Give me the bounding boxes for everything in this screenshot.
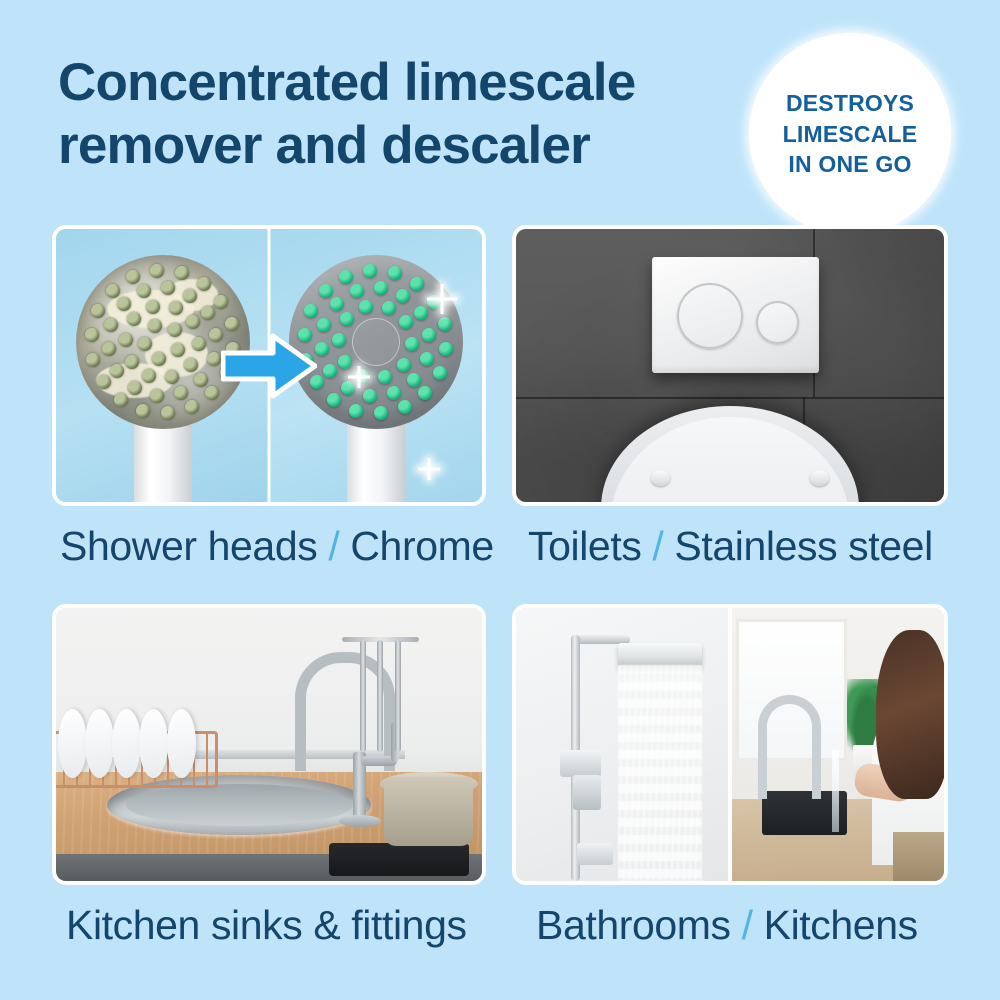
shower-nozzle bbox=[387, 386, 401, 400]
caption-separator: / bbox=[652, 523, 663, 569]
shower-nozzle bbox=[433, 366, 447, 380]
shower-nozzle bbox=[126, 270, 140, 284]
shower-nozzle bbox=[388, 266, 402, 280]
falling-water bbox=[618, 665, 703, 881]
shower-nozzle bbox=[97, 375, 111, 389]
shower-nozzle bbox=[378, 370, 392, 384]
running-water bbox=[832, 750, 839, 832]
caption-shower-heads: Shower heads / Chrome bbox=[60, 523, 494, 570]
shower-heads-image bbox=[56, 229, 482, 502]
shower-nozzle bbox=[146, 300, 160, 314]
toilet-bumper bbox=[651, 470, 670, 486]
utensil bbox=[377, 640, 383, 751]
shower-nozzle bbox=[150, 264, 164, 278]
tap-spout bbox=[758, 695, 822, 799]
shower-nozzle bbox=[319, 284, 333, 298]
panel-bathroom-kitchen bbox=[512, 604, 948, 885]
shower-nozzle bbox=[414, 306, 428, 320]
person-trousers bbox=[893, 832, 944, 881]
shower-nozzle bbox=[420, 352, 434, 366]
caption-toilets: Toilets / Stainless steel bbox=[528, 523, 933, 570]
badge-line-2: LIMESCALE bbox=[783, 119, 918, 150]
panel-divider bbox=[728, 608, 732, 881]
shower-nozzle bbox=[152, 352, 166, 366]
caption-part-b: Chrome bbox=[350, 523, 493, 569]
flush-plate[interactable] bbox=[652, 257, 819, 373]
shower-nozzle bbox=[91, 304, 105, 318]
shower-nozzle bbox=[104, 318, 118, 332]
shower-nozzle bbox=[192, 337, 206, 351]
poster-canvas: Concentrated limescale remover and desca… bbox=[0, 0, 1000, 1000]
headline-line-2: remover and descaler bbox=[58, 115, 748, 178]
bathroom-kitchen-image bbox=[516, 608, 944, 881]
shower-nozzle bbox=[339, 270, 353, 284]
sparkle-icon bbox=[427, 284, 457, 314]
caption-part-a: Shower heads bbox=[60, 523, 317, 569]
shower-nozzle bbox=[183, 289, 197, 303]
caption-part-a: Bathrooms bbox=[536, 902, 731, 948]
shower-nozzle bbox=[323, 364, 337, 378]
shower-nozzle bbox=[363, 389, 377, 403]
shower-nozzle bbox=[350, 284, 364, 298]
shower-nozzle bbox=[148, 319, 162, 333]
shower-nozzle bbox=[185, 400, 199, 414]
caption-part-a: Toilets bbox=[528, 523, 641, 569]
hob-surface bbox=[329, 843, 470, 876]
flush-button-full[interactable] bbox=[677, 283, 743, 349]
shower-nozzle bbox=[125, 355, 139, 369]
shower-mixer[interactable] bbox=[560, 750, 600, 777]
toilet-image bbox=[516, 229, 944, 502]
panel-kitchen-sink bbox=[52, 604, 486, 885]
sparkle-icon bbox=[348, 366, 370, 388]
caption-part-b: Kitchens bbox=[764, 902, 918, 948]
cooking-pot bbox=[384, 777, 473, 845]
status-badge: DESTROYS LIMESCALE IN ONE GO bbox=[749, 33, 951, 235]
shower-nozzle bbox=[175, 266, 189, 280]
panel-toilet bbox=[512, 225, 948, 506]
headline-line-1: Concentrated limescale bbox=[58, 53, 635, 112]
badge-line-3: IN ONE GO bbox=[788, 149, 911, 180]
shower-nozzle bbox=[169, 301, 183, 315]
shower-disc-center bbox=[352, 318, 400, 366]
shower-photo bbox=[516, 608, 728, 881]
shower-nozzle bbox=[102, 342, 116, 356]
shower-nozzle bbox=[382, 301, 396, 315]
shower-nozzle bbox=[410, 277, 424, 291]
shower-nozzle bbox=[363, 264, 377, 278]
shower-nozzle bbox=[438, 317, 452, 331]
caption-part-a: Kitchen sinks & fittings bbox=[66, 902, 467, 948]
shower-nozzle bbox=[315, 342, 329, 356]
shower-nozzle bbox=[359, 300, 373, 314]
plate bbox=[58, 709, 87, 778]
kitchen-sink-image bbox=[56, 608, 482, 881]
shower-nozzle bbox=[110, 364, 124, 378]
shower-nozzle bbox=[422, 328, 436, 342]
shower-slider-bracket bbox=[577, 843, 613, 865]
shower-nozzle bbox=[186, 315, 200, 329]
shower-nozzle bbox=[205, 386, 219, 400]
shower-nozzle bbox=[225, 317, 239, 331]
panel-shower-heads bbox=[52, 225, 486, 506]
shower-nozzle bbox=[161, 406, 175, 420]
shower-nozzle bbox=[349, 404, 363, 418]
shower-nozzle bbox=[396, 289, 410, 303]
utensil bbox=[395, 640, 401, 751]
shower-nozzle bbox=[327, 393, 341, 407]
shower-nozzle bbox=[407, 373, 421, 387]
shower-nozzle bbox=[106, 284, 120, 298]
caption-bathrooms-kitchens: Bathrooms / Kitchens bbox=[536, 902, 918, 949]
shower-nozzle bbox=[137, 284, 151, 298]
shower-nozzle bbox=[399, 315, 413, 329]
plate bbox=[167, 709, 196, 778]
shower-nozzle bbox=[142, 369, 156, 383]
shower-nozzle bbox=[165, 370, 179, 384]
shower-nozzle bbox=[138, 337, 152, 351]
badge-line-1: DESTROYS bbox=[786, 88, 914, 119]
shower-nozzle bbox=[127, 312, 141, 326]
page-title: Concentrated limescale remover and desca… bbox=[58, 52, 748, 177]
hand-shower bbox=[573, 775, 601, 810]
shower-nozzle bbox=[114, 393, 128, 407]
toilet-bumper bbox=[810, 470, 829, 486]
shower-nozzle bbox=[340, 312, 354, 326]
utensil-holder bbox=[329, 627, 440, 791]
shower-nozzle bbox=[439, 342, 453, 356]
shower-nozzle bbox=[330, 297, 344, 311]
kitchen-mixer-tap bbox=[758, 695, 822, 799]
shower-nozzle bbox=[150, 389, 164, 403]
person-hair bbox=[876, 630, 944, 799]
shower-nozzle bbox=[374, 406, 388, 420]
sparkle-icon bbox=[418, 458, 440, 480]
shower-nozzle bbox=[86, 353, 100, 367]
shower-nozzle bbox=[201, 306, 215, 320]
arrow-right-icon bbox=[221, 333, 317, 399]
shower-nozzle bbox=[197, 277, 211, 291]
shower-nozzle bbox=[184, 358, 198, 372]
shower-nozzle bbox=[119, 333, 133, 347]
caption-part-b: Stainless steel bbox=[674, 523, 932, 569]
shower-nozzle bbox=[117, 297, 131, 311]
shower-nozzle bbox=[174, 386, 188, 400]
dish-rack bbox=[52, 731, 218, 788]
shower-nozzle bbox=[332, 333, 346, 347]
tile-grout-line bbox=[516, 397, 944, 399]
shower-nozzle bbox=[85, 328, 99, 342]
utensil bbox=[360, 640, 366, 751]
plate bbox=[112, 709, 141, 778]
shower-nozzle bbox=[374, 281, 388, 295]
shower-nozzle bbox=[398, 400, 412, 414]
shower-nozzle bbox=[161, 281, 175, 295]
caption-separator: / bbox=[328, 523, 339, 569]
flush-button-half[interactable] bbox=[756, 301, 799, 344]
shower-nozzle bbox=[136, 404, 150, 418]
kitchen-photo bbox=[732, 608, 944, 881]
shower-nozzle bbox=[207, 352, 221, 366]
shower-nozzle bbox=[405, 337, 419, 351]
shower-nozzle bbox=[214, 295, 228, 309]
caption-kitchen-sinks: Kitchen sinks & fittings bbox=[66, 902, 467, 949]
shower-nozzle bbox=[397, 358, 411, 372]
shower-nozzle bbox=[171, 343, 185, 357]
shower-nozzle bbox=[194, 373, 208, 387]
shower-nozzle bbox=[128, 381, 142, 395]
shower-nozzle bbox=[304, 304, 318, 318]
tap-base bbox=[339, 815, 381, 827]
shower-nozzle bbox=[168, 323, 182, 337]
caption-separator: / bbox=[742, 902, 753, 948]
shower-nozzle bbox=[418, 386, 432, 400]
plate bbox=[85, 709, 114, 778]
shower-nozzle bbox=[317, 318, 331, 332]
